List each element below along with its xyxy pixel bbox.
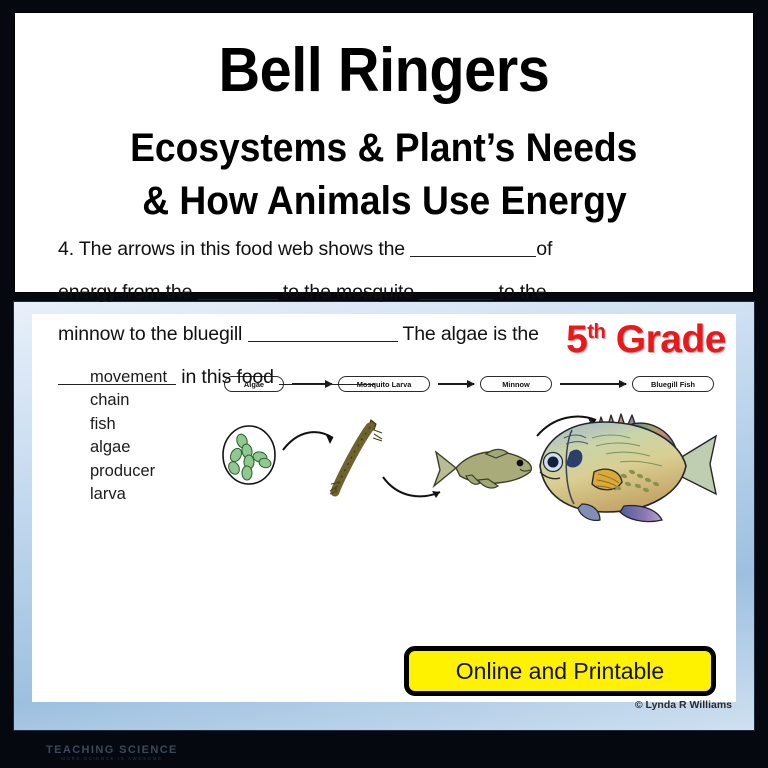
question-segment-1: The arrows in this food web shows the xyxy=(79,238,405,260)
answer-blank[interactable] xyxy=(419,299,493,300)
word-bank-item: producer xyxy=(90,460,167,483)
page-subtitle-line-2: & How Animals Use Energy xyxy=(142,177,626,226)
slide-page: Bell Ringers Ecosystems & Plant’s Needs … xyxy=(0,0,768,768)
teaching-science-watermark: TEACHING SCIENCE MORE SCIENCE IS AWESOME xyxy=(46,744,178,761)
answer-blank[interactable] xyxy=(248,341,398,342)
page-title: Bell Ringers xyxy=(219,39,550,102)
algae-illustration xyxy=(218,424,280,486)
question-segment-8: in this food xyxy=(181,366,274,388)
question-segment-6: minnow to the bluegill xyxy=(58,323,242,345)
question-segment-2: of xyxy=(536,238,552,260)
question-segment-5: to the xyxy=(499,281,547,303)
word-bank-item: algae xyxy=(90,436,167,459)
question-segment-7: The algae is the xyxy=(402,323,538,345)
bluegill-fish-illustration xyxy=(520,400,726,530)
question-number: 4. xyxy=(58,238,74,260)
answer-blank[interactable] xyxy=(410,256,536,257)
question-segment-4: to the mosquito xyxy=(283,281,414,303)
page-subtitle-line-1: Ecosystems & Plant’s Needs xyxy=(130,124,637,173)
answer-blank[interactable] xyxy=(58,384,176,385)
watermark-title: TEACHING SCIENCE xyxy=(46,744,178,756)
word-bank-item: larva xyxy=(90,483,167,506)
copyright-text: © Lynda R Williams xyxy=(635,699,732,711)
question-block: 4. The arrows in this food web shows the… xyxy=(58,228,658,398)
word-bank-item: fish xyxy=(90,413,167,436)
question-segment-3: energy from the xyxy=(58,281,192,303)
online-and-printable-badge: Online and Printable xyxy=(404,646,716,696)
answer-blank[interactable] xyxy=(279,384,375,385)
mosquito-larva-illustration xyxy=(324,414,384,498)
watermark-subtitle: MORE SCIENCE IS AWESOME xyxy=(46,756,178,761)
answer-blank[interactable] xyxy=(198,299,278,300)
